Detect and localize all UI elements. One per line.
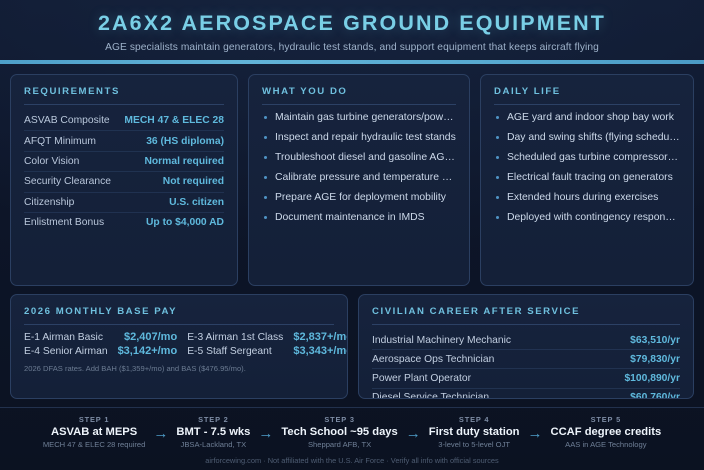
list-item: Electrical fault tracing on generators (494, 171, 680, 184)
list-item: Inspect and repair hydraulic test stands (262, 131, 456, 144)
step-3: STEP 3 Tech School ~95 days Sheppard AFB… (275, 415, 403, 449)
list-item: Deployed with contingency response ele..… (494, 211, 680, 224)
step-subtitle: Sheppard AFB, TX (281, 440, 397, 449)
list-item: Maintain gas turbine generators/power c.… (262, 111, 456, 124)
daily-life-card: DAILY LIFE AGE yard and indoor shop bay … (480, 74, 694, 286)
pay-amount: $3,343+/mo (293, 345, 348, 357)
requirement-value: Not required (163, 176, 224, 187)
list-item: Document maintenance in IMDS (262, 211, 456, 224)
table-row: AFQT Minimum 36 (HS diploma) (24, 131, 224, 151)
step-subtitle: AAS in AGE Technology (551, 440, 662, 449)
pay-amount: $2,837+/mo (293, 331, 348, 343)
requirement-value: U.S. citizen (169, 197, 224, 208)
cards-row-top: REQUIREMENTS ASVAB Composite MECH 47 & E… (10, 74, 694, 286)
civilian-job-pay: $63,510/yr (630, 335, 680, 346)
civilian-job-title: Aerospace Ops Technician (372, 354, 494, 365)
step-title: BMT - 7.5 wks (176, 426, 250, 438)
requirement-label: Color Vision (24, 156, 79, 167)
page-title: 2A6X2 AEROSPACE GROUND EQUIPMENT (20, 10, 684, 37)
civilian-career-card: CIVILIAN CAREER AFTER SERVICE Industrial… (358, 294, 694, 399)
cards-row-bottom: 2026 MONTHLY BASE PAY E-1 Airman Basic $… (10, 294, 694, 399)
table-row: Color Vision Normal required (24, 152, 224, 172)
requirement-value: Up to $4,000 AD (146, 217, 224, 228)
step-title: First duty station (429, 426, 520, 438)
requirements-table: ASVAB Composite MECH 47 & ELEC 28 AFQT M… (24, 111, 224, 232)
step-kicker: STEP 2 (176, 415, 250, 424)
requirement-label: Enlistment Bonus (24, 217, 104, 228)
civilian-job-pay: $100,890/yr (624, 373, 680, 384)
list-item: Diesel Service Technician $60,760/yr (372, 389, 680, 399)
requirement-value: Normal required (144, 156, 224, 167)
pay-amount: $3,142+/mo (118, 345, 178, 357)
daily-life-card-title: DAILY LIFE (494, 86, 680, 105)
step-kicker: STEP 1 (43, 415, 146, 424)
list-item: Day and swing shifts (flying schedule) (494, 131, 680, 144)
civilian-job-title: Industrial Machinery Mechanic (372, 335, 511, 346)
step-title: Tech School ~95 days (281, 426, 397, 438)
civilian-career-list: Industrial Machinery Mechanic $63,510/yr… (372, 331, 680, 399)
list-item: Troubleshoot diesel and gasoline AGE e..… (262, 151, 456, 164)
requirement-label: ASVAB Composite (24, 115, 110, 126)
what-you-do-card-title: WHAT YOU DO (262, 86, 456, 105)
civilian-job-pay: $60,760/yr (630, 392, 680, 399)
table-row: ASVAB Composite MECH 47 & ELEC 28 (24, 111, 224, 131)
step-kicker: STEP 4 (429, 415, 520, 424)
step-subtitle: 3-level to 5-level OJT (429, 440, 520, 449)
arrow-right-icon: → (256, 426, 275, 441)
page-header: 2A6X2 AEROSPACE GROUND EQUIPMENT AGE spe… (0, 0, 704, 64)
requirement-value: 36 (HS diploma) (146, 136, 224, 147)
list-item: Extended hours during exercises (494, 191, 680, 204)
step-2: STEP 2 BMT - 7.5 wks JBSA-Lackland, TX (170, 415, 256, 449)
requirements-card: REQUIREMENTS ASVAB Composite MECH 47 & E… (10, 74, 238, 286)
base-pay-card-title: 2026 MONTHLY BASE PAY (24, 306, 334, 325)
list-item: Power Plant Operator $100,890/yr (372, 369, 680, 388)
step-title: ASVAB at MEPS (43, 426, 146, 438)
civilian-job-title: Diesel Service Technician (372, 392, 489, 399)
table-row: Enlistment Bonus Up to $4,000 AD (24, 213, 224, 232)
step-4: STEP 4 First duty station 3-level to 5-l… (423, 415, 526, 449)
main-content: REQUIREMENTS ASVAB Composite MECH 47 & E… (0, 64, 704, 400)
base-pay-card: 2026 MONTHLY BASE PAY E-1 Airman Basic $… (10, 294, 348, 399)
career-steps-bar: STEP 1 ASVAB at MEPS MECH 47 & ELEC 28 r… (0, 407, 704, 453)
base-pay-note: 2026 DFAS rates. Add BAH ($1,359+/mo) an… (24, 364, 334, 374)
daily-life-list: AGE yard and indoor shop bay work Day an… (494, 111, 680, 224)
requirements-card-title: REQUIREMENTS (24, 86, 224, 105)
table-row: Citizenship U.S. citizen (24, 193, 224, 213)
requirement-label: AFQT Minimum (24, 136, 96, 147)
pay-amount: $2,407/mo (118, 331, 178, 343)
civilian-career-card-title: CIVILIAN CAREER AFTER SERVICE (372, 306, 680, 325)
step-kicker: STEP 5 (551, 415, 662, 424)
pay-rank: E-3 Airman 1st Class (187, 332, 283, 343)
list-item: Scheduled gas turbine compressor insp... (494, 151, 680, 164)
page-footer: airforcewing.com · Not affiliated with t… (0, 453, 704, 470)
pay-rank: E-4 Senior Airman (24, 346, 108, 357)
civilian-job-title: Power Plant Operator (372, 373, 471, 384)
requirement-label: Citizenship (24, 197, 74, 208)
list-item: Prepare AGE for deployment mobility (262, 191, 456, 204)
pay-rank: E-1 Airman Basic (24, 332, 108, 343)
base-pay-grid: E-1 Airman Basic $2,407/mo E-3 Airman 1s… (24, 331, 334, 357)
step-kicker: STEP 3 (281, 415, 397, 424)
list-item: AGE yard and indoor shop bay work (494, 111, 680, 124)
step-1: STEP 1 ASVAB at MEPS MECH 47 & ELEC 28 r… (37, 415, 152, 449)
list-item: Calibrate pressure and temperature gau..… (262, 171, 456, 184)
step-title: CCAF degree credits (551, 426, 662, 438)
requirement-label: Security Clearance (24, 176, 111, 187)
infographic-page: 2A6X2 AEROSPACE GROUND EQUIPMENT AGE spe… (0, 0, 704, 470)
what-you-do-list: Maintain gas turbine generators/power c.… (262, 111, 456, 224)
what-you-do-card: WHAT YOU DO Maintain gas turbine generat… (248, 74, 470, 286)
arrow-right-icon: → (404, 426, 423, 441)
arrow-right-icon: → (526, 426, 545, 441)
table-row: Security Clearance Not required (24, 172, 224, 192)
step-subtitle: JBSA-Lackland, TX (176, 440, 250, 449)
page-subtitle: AGE specialists maintain generators, hyd… (20, 41, 684, 55)
step-5: STEP 5 CCAF degree credits AAS in AGE Te… (545, 415, 668, 449)
list-item: Aerospace Ops Technician $79,830/yr (372, 350, 680, 369)
requirement-value: MECH 47 & ELEC 28 (124, 115, 224, 126)
pay-rank: E-5 Staff Sergeant (187, 346, 283, 357)
arrow-right-icon: → (151, 426, 170, 441)
list-item: Industrial Machinery Mechanic $63,510/yr (372, 331, 680, 350)
step-subtitle: MECH 47 & ELEC 28 required (43, 440, 146, 449)
civilian-job-pay: $79,830/yr (630, 354, 680, 365)
